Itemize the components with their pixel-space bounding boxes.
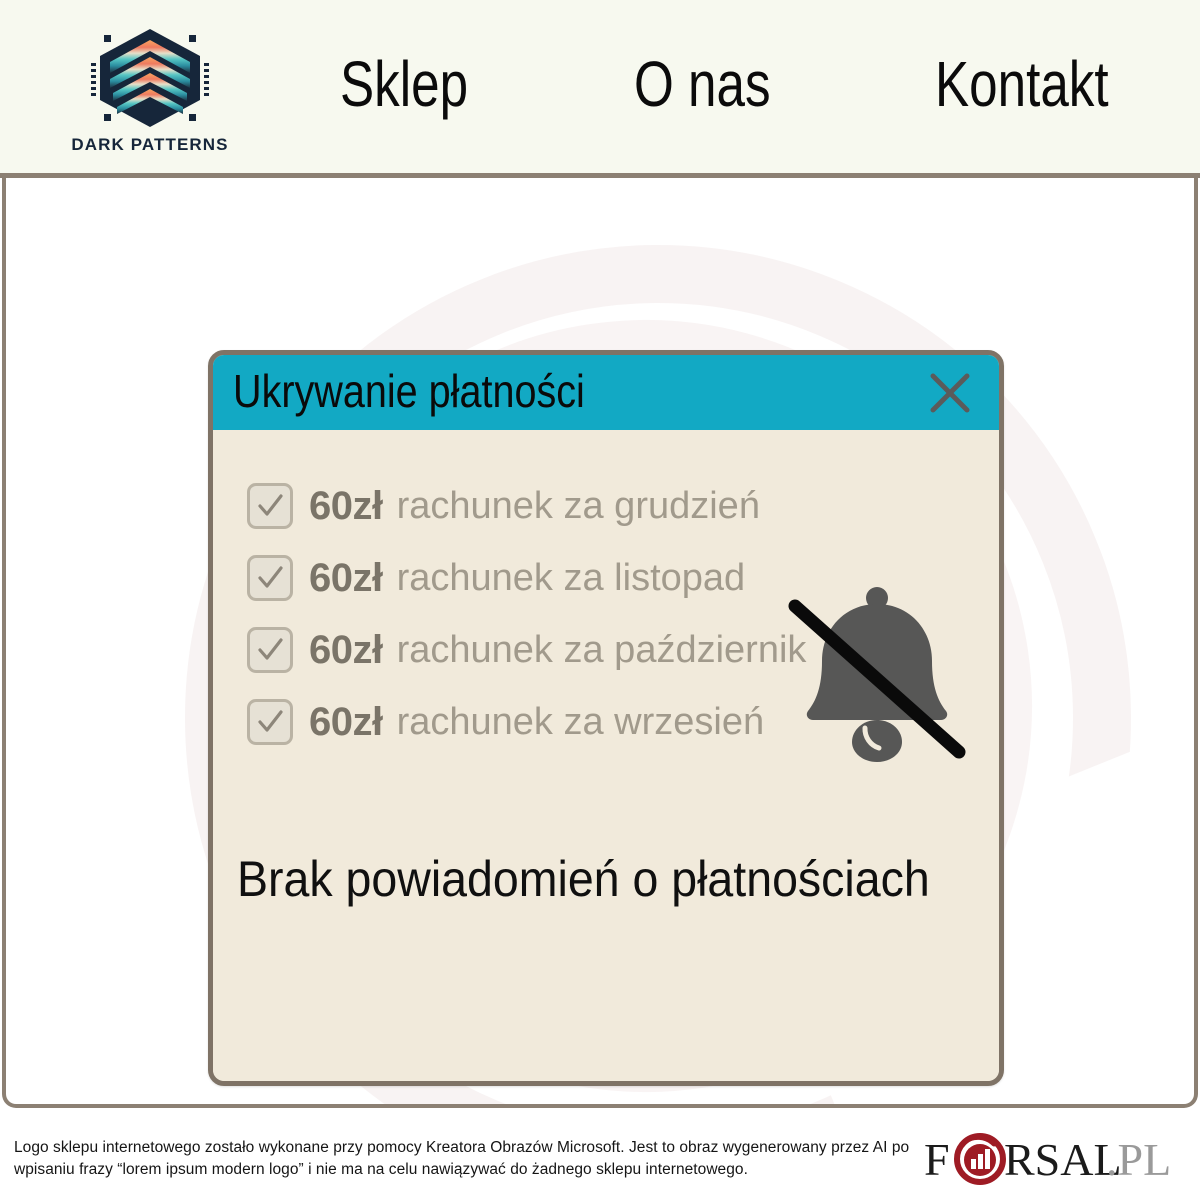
check-icon (255, 707, 285, 737)
bill-list: 60zł rachunek za grudzień 60zł rachunek … (213, 470, 999, 758)
bill-row: 60zł rachunek za listopad (247, 542, 999, 614)
bill-description: rachunek za listopad (397, 557, 746, 600)
bill-description: rachunek za październik (397, 629, 807, 672)
bill-checkbox[interactable] (247, 555, 293, 601)
bill-amount: 60zł (309, 700, 383, 745)
site-header: DARK PATTERNS Sklep O nas Kontakt (0, 0, 1200, 178)
bill-amount: 60zł (309, 484, 383, 529)
dialog-headline: Brak powiadomień o płatnościach (237, 850, 927, 908)
brand-name: DARK PATTERNS (71, 135, 228, 155)
forsal-logo[interactable]: F RSAL .PL (924, 1129, 1174, 1189)
dialog-titlebar: Ukrywanie płatności (213, 355, 999, 430)
page-footer: Logo sklepu internetowego zostało wykona… (0, 1118, 1200, 1200)
check-icon (255, 563, 285, 593)
check-icon (255, 635, 285, 665)
hexagon-chevron-logo-icon (85, 23, 215, 133)
main-content-area: Ukrywanie płatności (2, 178, 1198, 1108)
bill-row: 60zł rachunek za wrzesień (247, 686, 999, 758)
bill-description: rachunek za wrzesień (397, 701, 765, 744)
brand[interactable]: DARK PATTERNS (0, 0, 300, 173)
bill-description: rachunek za grudzień (397, 485, 760, 528)
check-icon (255, 491, 285, 521)
nav-link-o-nas[interactable]: O nas (634, 47, 771, 121)
svg-text:.PL: .PL (1106, 1134, 1171, 1185)
dialog-body: 60zł rachunek za grudzień 60zł rachunek … (213, 430, 999, 1081)
nav-link-kontakt[interactable]: Kontakt (935, 47, 1109, 121)
dialog-title: Ukrywanie płatności (233, 368, 585, 414)
footer-disclaimer: Logo sklepu internetowego zostało wykona… (14, 1137, 919, 1182)
bill-checkbox[interactable] (247, 699, 293, 745)
bill-checkbox[interactable] (247, 483, 293, 529)
svg-text:F: F (924, 1134, 950, 1185)
close-icon (925, 368, 975, 418)
bill-checkbox[interactable] (247, 627, 293, 673)
bill-row: 60zł rachunek za październik (247, 614, 999, 686)
svg-text:RSAL: RSAL (1004, 1134, 1122, 1185)
payment-hiding-dialog: Ukrywanie płatności (208, 350, 1004, 1086)
bill-amount: 60zł (309, 556, 383, 601)
main-nav: Sklep O nas Kontakt (300, 47, 1200, 127)
forsal-logo-icon: F RSAL .PL (924, 1129, 1174, 1189)
bill-amount: 60zł (309, 628, 383, 673)
nav-link-sklep[interactable]: Sklep (340, 47, 468, 121)
bill-row: 60zł rachunek za grudzień (247, 470, 999, 542)
page-root: DARK PATTERNS Sklep O nas Kontakt Ukrywa… (0, 0, 1200, 1200)
close-button[interactable] (923, 366, 977, 420)
